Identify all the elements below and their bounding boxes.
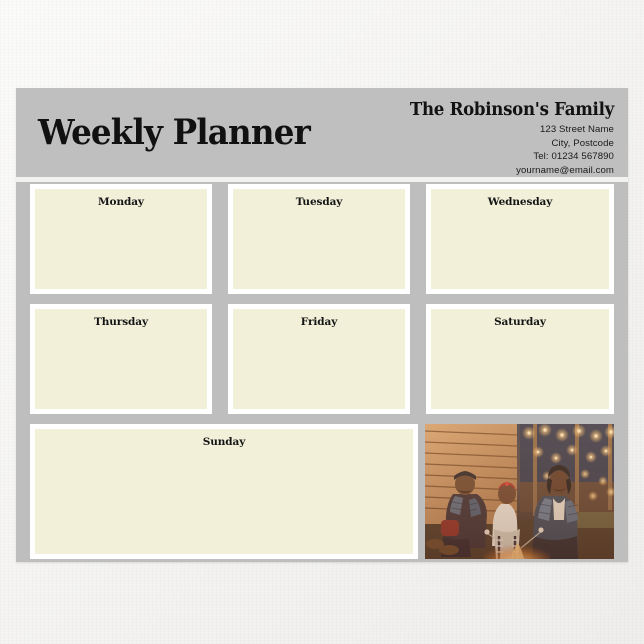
day-box-wednesday[interactable]: Wednesday bbox=[426, 184, 614, 294]
day-box-friday-inner[interactable]: Friday bbox=[233, 309, 405, 409]
day-label-wednesday: Wednesday bbox=[431, 196, 609, 208]
address-line-street: 123 Street Name bbox=[294, 123, 614, 137]
day-box-monday-inner[interactable]: Monday bbox=[35, 189, 207, 289]
day-box-wednesday-inner[interactable]: Wednesday bbox=[431, 189, 609, 289]
day-box-saturday-inner[interactable]: Saturday bbox=[431, 309, 609, 409]
address-line-phone: Tel: 01234 567890 bbox=[294, 150, 614, 164]
day-box-friday[interactable]: Friday bbox=[228, 304, 410, 414]
planner-header: Weekly Planner The Robinson's Family 123… bbox=[16, 88, 628, 177]
page-title: Weekly Planner bbox=[38, 112, 310, 153]
day-box-tuesday[interactable]: Tuesday bbox=[228, 184, 410, 294]
day-label-tuesday: Tuesday bbox=[233, 196, 405, 208]
day-box-saturday[interactable]: Saturday bbox=[426, 304, 614, 414]
day-label-sunday: Sunday bbox=[35, 436, 413, 448]
family-info-block: The Robinson's Family 123 Street Name Ci… bbox=[294, 100, 614, 178]
address-block: 123 Street Name City, Postcode Tel: 0123… bbox=[294, 123, 614, 177]
day-box-thursday[interactable]: Thursday bbox=[30, 304, 212, 414]
day-box-sunday-inner[interactable]: Sunday bbox=[35, 429, 413, 554]
planner-panel: Weekly Planner The Robinson's Family 123… bbox=[16, 88, 628, 562]
day-box-tuesday-inner[interactable]: Tuesday bbox=[233, 189, 405, 289]
day-label-saturday: Saturday bbox=[431, 316, 609, 328]
address-line-city: City, Postcode bbox=[294, 137, 614, 151]
day-label-monday: Monday bbox=[35, 196, 207, 208]
family-photo-image bbox=[425, 424, 614, 559]
planner-grid: Monday Tuesday Wednesday Thursday Friday bbox=[16, 182, 628, 562]
day-box-monday[interactable]: Monday bbox=[30, 184, 212, 294]
family-photo bbox=[425, 424, 614, 559]
day-box-thursday-inner[interactable]: Thursday bbox=[35, 309, 207, 409]
family-name: The Robinson's Family bbox=[310, 100, 614, 120]
day-box-sunday[interactable]: Sunday bbox=[30, 424, 418, 559]
day-label-friday: Friday bbox=[233, 316, 405, 328]
address-line-email: yourname@email.com bbox=[294, 164, 614, 178]
day-label-thursday: Thursday bbox=[35, 316, 207, 328]
